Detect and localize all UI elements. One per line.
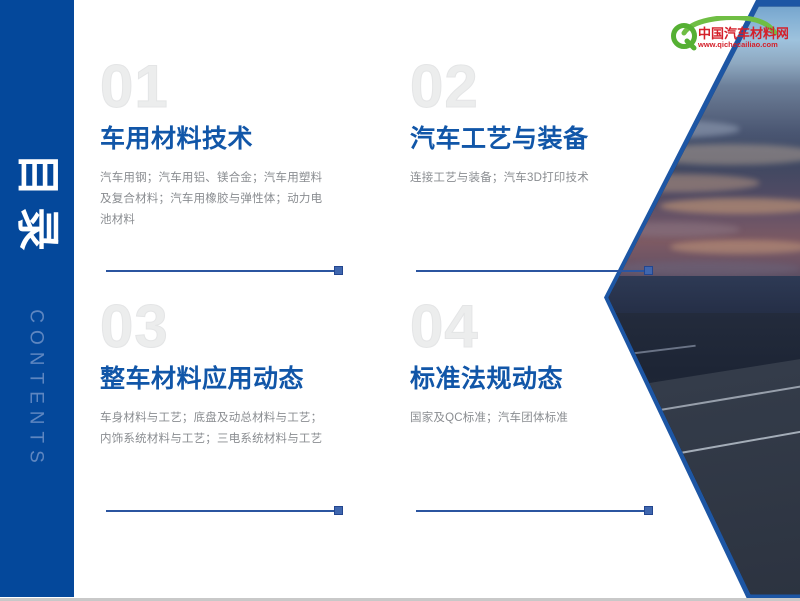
block-divider <box>106 506 342 515</box>
divider-end-cap <box>334 506 343 515</box>
block-description: 车身材料与工艺；底盘及动总材料与工艺；内饰系统材料与工艺；三电系统材料与工艺 <box>100 408 332 451</box>
divider-end-cap <box>334 266 343 275</box>
logo-url-text: www.qichecailiao.com <box>697 40 778 49</box>
block-number: 03 <box>100 298 348 364</box>
content-block-04[interactable]: 04 标准法规动态 国家及QC标准；汽车团体标准 <box>410 298 658 429</box>
divider-line <box>106 510 334 512</box>
block-divider <box>416 266 652 275</box>
content-block-01[interactable]: 01 车用材料技术 汽车用钢；汽车用铝、镁合金；汽车用塑料及复合材料；汽车用橡胶… <box>100 58 348 232</box>
divider-line <box>416 510 644 512</box>
contents-grid: 01 车用材料技术 汽车用钢；汽车用铝、镁合金；汽车用塑料及复合材料；汽车用橡胶… <box>0 0 800 601</box>
contents-slide: 中国汽车材料网 www.qichecailiao.com 目录 CONTENTS… <box>0 0 800 601</box>
content-block-02[interactable]: 02 汽车工艺与装备 连接工艺与装备；汽车3D打印技术 <box>410 58 658 189</box>
block-divider <box>416 506 652 515</box>
logo-icon: 中国汽车材料网 www.qichecailiao.com <box>670 16 788 52</box>
bottom-rule <box>0 598 800 600</box>
divider-line <box>416 270 644 272</box>
block-number: 01 <box>100 58 348 124</box>
block-description: 汽车用钢；汽车用铝、镁合金；汽车用塑料及复合材料；汽车用橡胶与弹性体；动力电池材… <box>100 168 332 232</box>
block-title[interactable]: 车用材料技术 <box>100 125 348 154</box>
block-title[interactable]: 标准法规动态 <box>410 365 658 394</box>
block-number: 02 <box>410 58 658 124</box>
logo-name-text: 中国汽车材料网 <box>698 26 788 41</box>
divider-end-cap <box>644 506 653 515</box>
divider-end-cap <box>644 266 653 275</box>
block-divider <box>106 266 342 275</box>
block-title[interactable]: 汽车工艺与装备 <box>410 125 658 154</box>
block-description: 国家及QC标准；汽车团体标准 <box>410 408 642 429</box>
content-block-03[interactable]: 03 整车材料应用动态 车身材料与工艺；底盘及动总材料与工艺；内饰系统材料与工艺… <box>100 298 348 450</box>
block-description: 连接工艺与装备；汽车3D打印技术 <box>410 168 642 189</box>
site-logo[interactable]: 中国汽车材料网 www.qichecailiao.com <box>670 16 788 52</box>
block-number: 04 <box>410 298 658 364</box>
block-title[interactable]: 整车材料应用动态 <box>100 365 348 394</box>
divider-line <box>106 270 334 272</box>
